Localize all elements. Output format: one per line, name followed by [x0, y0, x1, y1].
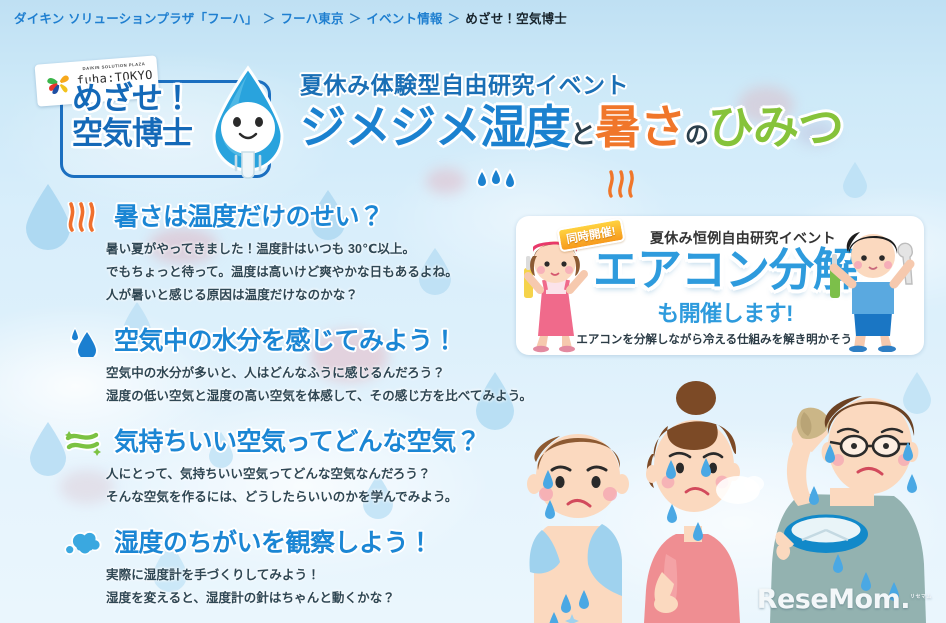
section-item: 気持ちいい空気ってどんな空気？ 人にとって、気持ちいい空気ってどんな空気なんだろ…	[64, 423, 534, 507]
hero-title-main: ジメジメ湿度と暑さのひみつ	[300, 100, 900, 163]
section-title: 空気中の水分を感じてみよう！	[114, 326, 457, 356]
page-root: ダイキン ソリューションプラザ「フーハ」＞フーハ東京＞イベント情報＞めざせ！空気…	[0, 0, 946, 623]
hero-title-part-3: の	[685, 122, 708, 149]
section-line: 湿度を変えると、湿度計の針はちゃんと動くかな？	[106, 589, 534, 608]
breadcrumb-separator: ＞	[349, 12, 362, 26]
section-line: 人が暑いと感じる原因は温度だけなのかな？	[106, 286, 534, 305]
section-line: でもちょっと待って。温度は高いけど爽やかな日もあるよね。	[106, 263, 534, 282]
section-title: 暑さは温度だけのせい？	[114, 202, 384, 232]
resemom-watermark: ReseMom.リセマム	[757, 584, 932, 615]
water-drop-mascot-icon	[202, 64, 294, 182]
breadcrumb-separator: ＞	[263, 12, 276, 26]
section-title: 湿度のちがいを観察しよう！	[114, 528, 433, 558]
event-logo: DAIKIN SOLUTION PLAZA fuha:TOKYO めざせ！ 空気…	[30, 58, 295, 178]
section-title: 気持ちいい空気ってどんな空気？	[114, 427, 480, 457]
boy-in-blue-shirt	[527, 434, 629, 623]
woman-in-pink-top	[644, 381, 764, 623]
section-body: 実際に湿度計を手づくりしてみよう！ 湿度を変えると、湿度計の針はちゃんと動くかな…	[106, 566, 534, 608]
water-drop-icon	[64, 324, 102, 358]
section-line: 人にとって、気持ちいい空気ってどんな空気なんだろう？	[106, 465, 534, 484]
hero-title-part-4: ひみつ	[708, 101, 843, 153]
steam-decoration-icon	[605, 170, 641, 198]
sweat-drops-decoration-icon	[475, 168, 521, 194]
section-line: 空気中の水分が多いと、人はどんなふうに感じるんだろう？	[106, 364, 534, 383]
hero-title-part-1: と	[570, 119, 595, 149]
section-item: 暑さは温度だけのせい？ 暑い夏がやってきました！温度計はいつも 30℃以上。 で…	[64, 198, 534, 305]
breadcrumb-item-1[interactable]: フーハ東京	[280, 12, 343, 26]
promo-headline: エアコン分解	[590, 244, 860, 296]
section-header: 湿度のちがいを観察しよう！	[64, 524, 534, 562]
section-header: 暑さは温度だけのせい？	[64, 198, 534, 236]
section-item: 空気中の水分を感じてみよう！ 空気中の水分が多いと、人はどんなふうに感じるんだろ…	[64, 322, 534, 406]
hero-title-part-0: ジメジメ湿度	[300, 101, 570, 153]
breeze-icon	[64, 425, 102, 459]
breadcrumb-item-0[interactable]: ダイキン ソリューションプラザ「フーハ」	[14, 12, 258, 26]
promo-banner[interactable]: 同時開催! 夏休み恒例自由研究イベント エアコン分解 も開催します! エアコンを…	[516, 216, 924, 355]
boy-with-wrench-illustration	[826, 224, 922, 352]
section-body: 人にとって、気持ちいい空気ってどんな空気なんだろう？ そんな空気を作るには、どう…	[106, 465, 534, 507]
breadcrumb: ダイキン ソリューションプラザ「フーハ」＞フーハ東京＞イベント情報＞めざせ！空気…	[14, 9, 936, 29]
promo-headline-suffix: も開催します!	[590, 296, 860, 328]
hero-title-part-2: 暑さ	[595, 101, 685, 153]
section-header: 気持ちいい空気ってどんな空気？	[64, 423, 534, 461]
section-line: 湿度の低い空気と湿度の高い空気を体感して、その感じ方を比べてみよう。	[106, 387, 534, 406]
breadcrumb-item-current: めざせ！空気博士	[465, 12, 567, 26]
section-body: 暑い夏がやってきました！温度計はいつも 30℃以上。 でもちょっと待って。温度は…	[106, 240, 534, 305]
section-line: 実際に湿度計を手づくりしてみよう！	[106, 566, 534, 585]
section-line: そんな空気を作るには、どうしたらいいのかを学んでみよう。	[106, 488, 534, 507]
breadcrumb-separator: ＞	[448, 12, 461, 26]
watermark-text: ReseMom.	[757, 584, 910, 615]
heat-waves-icon	[64, 200, 102, 234]
daikin-pinwheel-icon	[43, 69, 75, 99]
sections-list: 暑さは温度だけのせい？ 暑い夏がやってきました！温度計はいつも 30℃以上。 で…	[64, 198, 534, 623]
section-header: 空気中の水分を感じてみよう！	[64, 322, 534, 360]
hero-subtitle: 夏休み体験型自由研究イベント	[300, 72, 900, 98]
section-body: 空気中の水分が多いと、人はどんなふうに感じるんだろう？ 湿度の低い空気と湿度の高…	[106, 364, 534, 406]
cloud-icon	[64, 526, 102, 560]
watermark-ruby: リセマム	[910, 594, 932, 600]
section-line: 暑い夏がやってきました！温度計はいつも 30℃以上。	[106, 240, 534, 259]
section-item: 湿度のちがいを観察しよう！ 実際に湿度計を手づくりしてみよう！ 湿度を変えると、…	[64, 524, 534, 608]
hero-title: 夏休み体験型自由研究イベント ジメジメ湿度と暑さのひみつ	[300, 72, 900, 182]
breadcrumb-item-2[interactable]: イベント情報	[366, 12, 442, 26]
